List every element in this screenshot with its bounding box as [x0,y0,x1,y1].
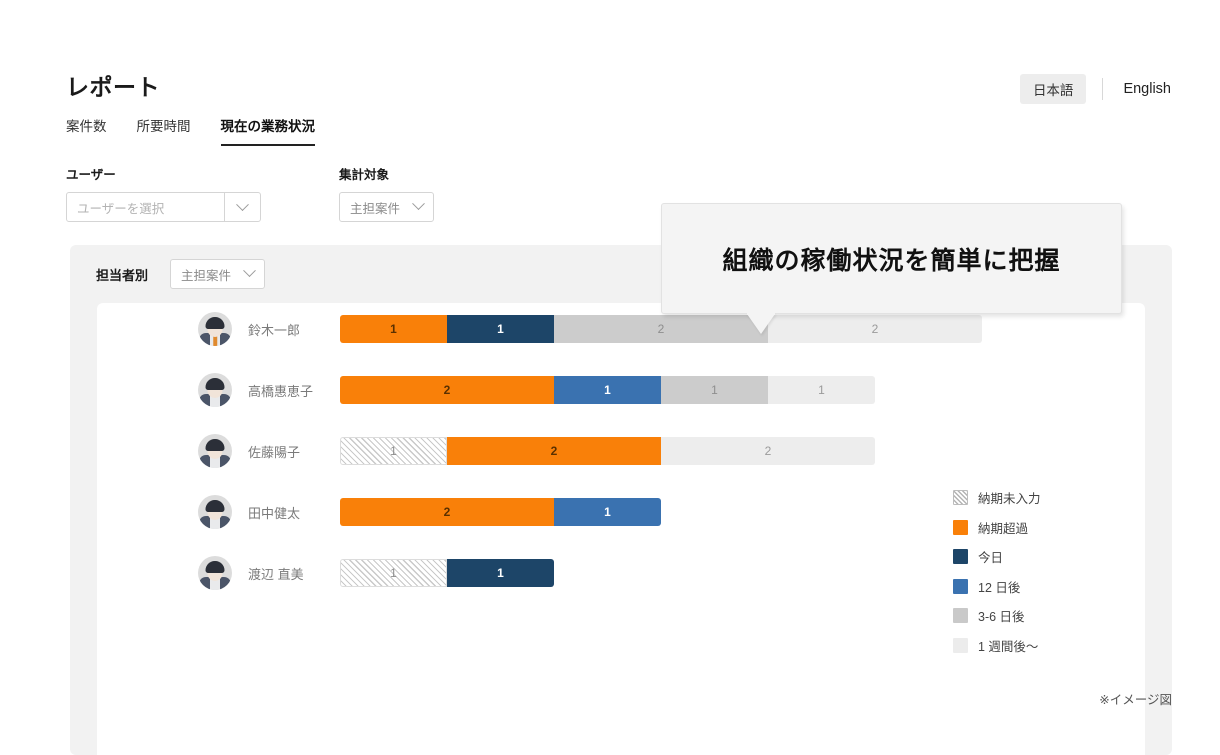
tab-required-time[interactable]: 所要時間 [137,115,191,146]
legend-item: 12 日後 [953,577,1041,596]
chevron-down-icon[interactable] [414,198,423,216]
bar-segment-hatch[interactable]: 1 [340,559,447,587]
legend-item: 3-6 日後 [953,606,1041,625]
legend-label: 3-6 日後 [978,606,1025,625]
card-title: 担当者別 [96,265,148,284]
chart-row: 高橋惠恵子2111 [198,368,875,412]
bar-segment-navy[interactable]: 1 [447,315,554,343]
image-disclaimer: ※イメージ図 [1099,689,1172,708]
filter-bar: ユーザー ユーザーを選択 集計対象 主担案件 [66,164,434,222]
avatar [198,373,232,407]
chart-row-label: 高橋惠恵子 [248,381,340,400]
chart-panel: 鈴木一郎1122高橋惠恵子2111佐藤陽子122田中健太21渡辺 直美11 納期… [97,303,1145,755]
bar-segment-orange[interactable]: 2 [340,498,554,526]
chart-row-label: 佐藤陽子 [248,442,340,461]
user-select[interactable]: ユーザーを選択 [66,192,261,222]
legend-swatch-navy [953,549,968,564]
bar-segment-orange[interactable]: 2 [340,376,554,404]
bar-segment-gray[interactable]: 1 [661,376,768,404]
chart-row: 渡辺 直美11 [198,551,554,595]
chevron-down-icon[interactable] [245,265,254,283]
chart-legend: 納期未入力納期超過今日12 日後3-6 日後1 週間後〜 [953,488,1041,655]
legend-item: 今日 [953,547,1041,566]
language-option-en[interactable]: English [1119,76,1175,102]
legend-label: 納期未入力 [978,488,1041,507]
legend-swatch-orange [953,520,968,535]
avatar [198,312,232,346]
stacked-bar[interactable]: 122 [340,437,875,465]
legend-swatch-light [953,638,968,653]
bar-segment-orange[interactable]: 1 [340,315,447,343]
chevron-down-icon[interactable] [224,193,260,221]
legend-swatch-hatch [953,490,968,505]
legend-label: 1 週間後〜 [978,636,1038,655]
chart-row-label: 渡辺 直美 [248,564,340,583]
page-title: レポート [66,68,160,102]
feature-callout: 組織の稼働状況を簡単に把握 [661,203,1122,314]
filter-target: 集計対象 主担案件 [339,164,434,222]
stacked-bar[interactable]: 2111 [340,376,875,404]
legend-label: 12 日後 [978,577,1020,596]
legend-item: 納期未入力 [953,488,1041,507]
filter-user: ユーザー ユーザーを選択 [66,164,261,222]
tab-case-count[interactable]: 案件数 [66,115,107,146]
language-divider [1102,78,1103,100]
user-select-value[interactable]: ユーザーを選択 [67,193,224,221]
stacked-bar[interactable]: 21 [340,498,661,526]
filter-target-label: 集計対象 [339,164,434,183]
callout-tail [747,314,775,334]
report-tabs[interactable]: 案件数 所要時間 現在の業務状況 [66,115,315,146]
bar-segment-gray[interactable]: 2 [554,315,768,343]
card-header: 担当者別 主担案件 [96,259,265,289]
avatar [198,556,232,590]
avatar [198,434,232,468]
stacked-bar[interactable]: 11 [340,559,554,587]
stacked-bar[interactable]: 1122 [340,315,982,343]
bar-segment-blue[interactable]: 1 [554,376,661,404]
bar-segment-light[interactable]: 2 [768,315,982,343]
target-select-value[interactable]: 主担案件 [350,198,400,217]
chart-row: 田中健太21 [198,490,661,534]
target-select[interactable]: 主担案件 [339,192,434,222]
filter-user-label: ユーザー [66,164,261,183]
chart-row-label: 田中健太 [248,503,340,522]
bar-segment-light[interactable]: 1 [768,376,875,404]
bar-segment-navy[interactable]: 1 [447,559,554,587]
avatar [198,495,232,529]
bar-segment-light[interactable]: 2 [661,437,875,465]
language-switcher[interactable]: 日本語 English [1020,74,1175,104]
legend-item: 1 週間後〜 [953,636,1041,655]
bar-segment-hatch[interactable]: 1 [340,437,447,465]
feature-callout-text: 組織の稼働状況を簡単に把握 [722,241,1060,277]
legend-item: 納期超過 [953,518,1041,537]
legend-swatch-gray [953,608,968,623]
legend-label: 今日 [978,547,1003,566]
chart-row-label: 鈴木一郎 [248,320,340,339]
report-card: 担当者別 主担案件 鈴木一郎1122高橋惠恵子2111佐藤陽子122田中健太21… [70,245,1172,755]
bar-segment-orange[interactable]: 2 [447,437,661,465]
card-target-select[interactable]: 主担案件 [170,259,265,289]
card-target-select-value[interactable]: 主担案件 [181,265,231,284]
bar-segment-blue[interactable]: 1 [554,498,661,526]
legend-swatch-blue [953,579,968,594]
language-option-ja[interactable]: 日本語 [1020,74,1087,104]
chart-row: 佐藤陽子122 [198,429,875,473]
filter-spacer [261,164,339,222]
tab-current-status[interactable]: 現在の業務状況 [221,115,316,146]
legend-label: 納期超過 [978,518,1028,537]
